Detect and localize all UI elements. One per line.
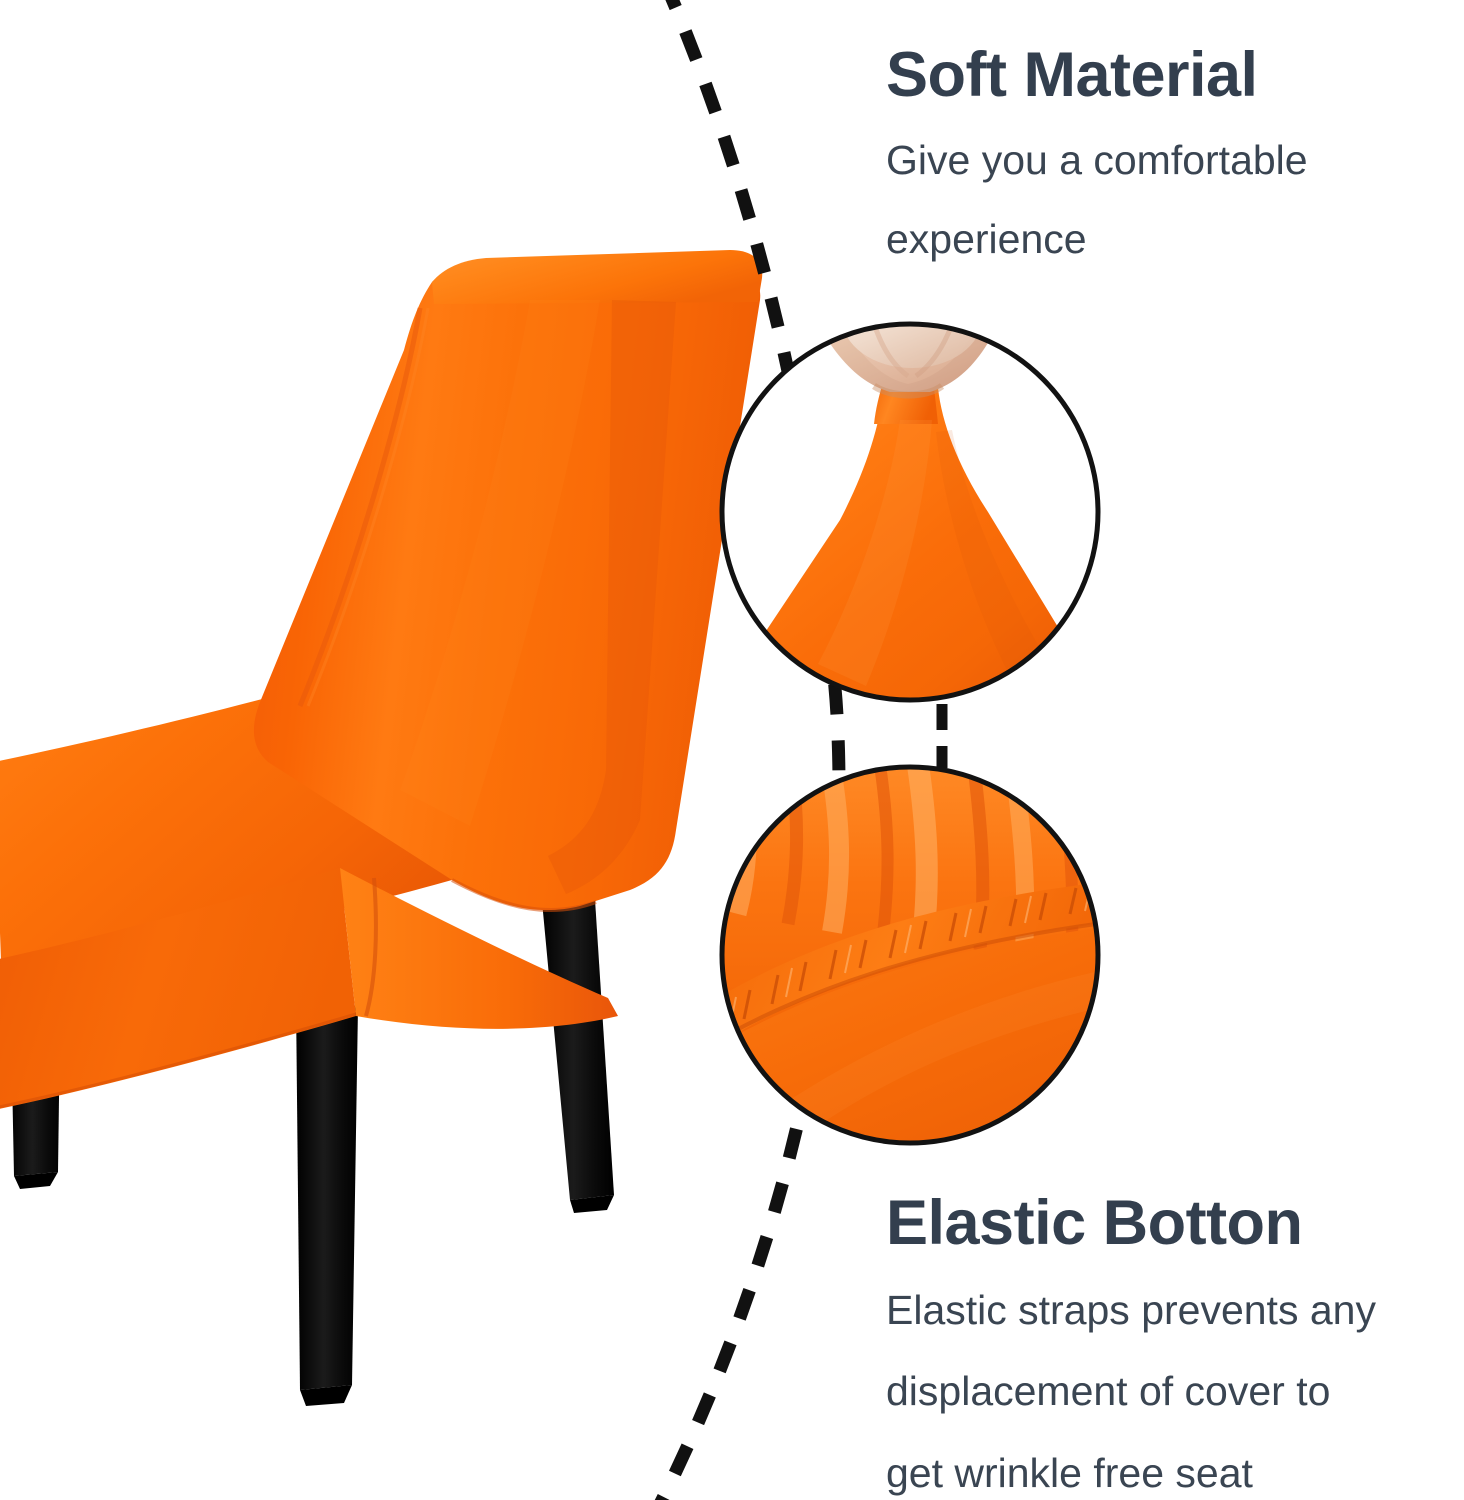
elastic-bottom-line-1: Elastic straps prevents any — [886, 1284, 1446, 1337]
elastic-bottom-line-3: get wrinkle free seat — [886, 1447, 1446, 1500]
soft-material-line-1: Give you a comfortable — [886, 134, 1426, 187]
soft-material-heading: Soft Material — [886, 42, 1426, 108]
feature-soft-material-text: Soft Material Give you a comfortable exp… — [886, 42, 1426, 267]
elastic-bottom-line-2: displacement of cover to — [886, 1365, 1446, 1418]
feature-elastic-bottom-text: Elastic Botton Elastic straps prevents a… — [886, 1190, 1446, 1500]
infographic-canvas: Soft Material Give you a comfortable exp… — [0, 0, 1464, 1500]
soft-material-line-2: experience — [886, 213, 1426, 266]
elastic-bottom-heading: Elastic Botton — [886, 1190, 1446, 1256]
